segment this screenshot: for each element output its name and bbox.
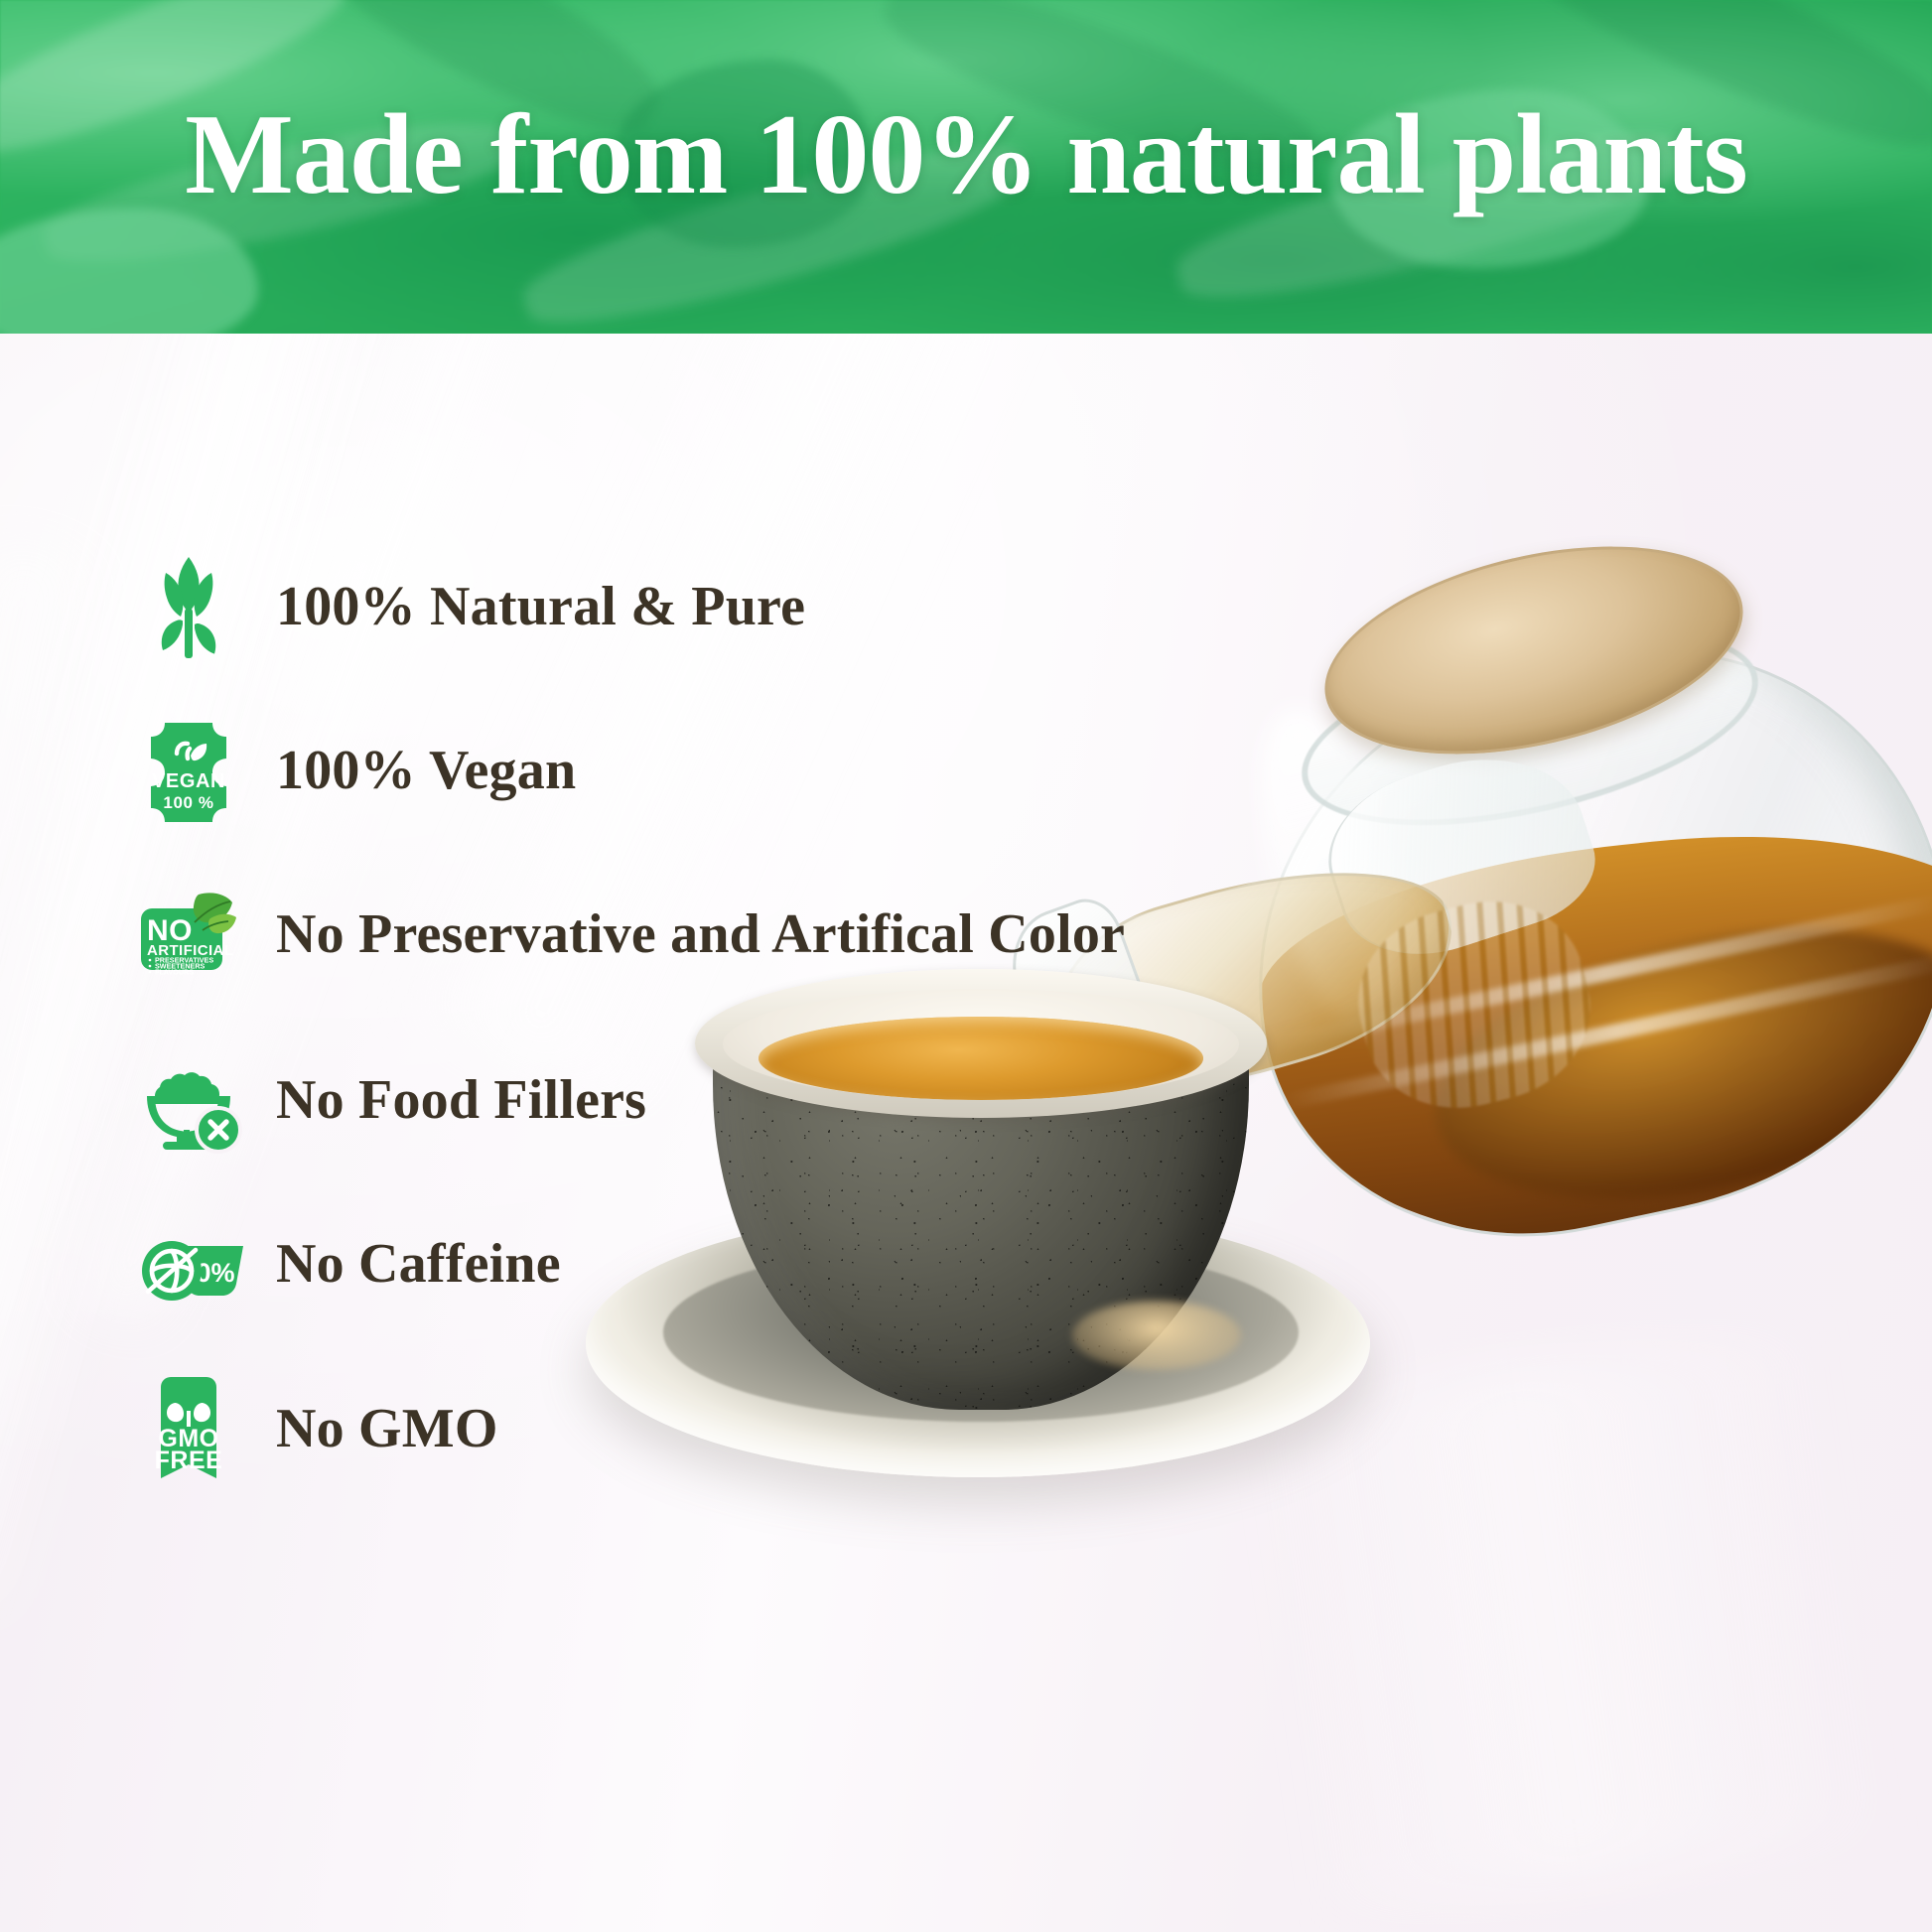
feature-label: No Food Fillers	[276, 1068, 646, 1132]
feature-label: 100% Natural & Pure	[276, 575, 805, 638]
no-artificial-badge-icon: NO ARTIFICIAL PRESERVATIVES SWEETENERS F…	[129, 875, 248, 994]
rice-bowl-no-fillers-icon	[129, 1040, 248, 1160]
product-feature-graphic: Made from 100% natural plants	[0, 0, 1932, 1932]
feature-row-vegan: VEGAN 100 % 100% Vegan	[129, 696, 576, 845]
feature-label: No Preservative and Artifical Color	[276, 902, 1125, 966]
vegan-badge-line1: VEGAN	[152, 770, 225, 792]
header-banner: Made from 100% natural plants	[0, 0, 1932, 334]
feature-label: No Caffeine	[276, 1232, 561, 1296]
page-title: Made from 100% natural plants	[0, 97, 1932, 212]
feature-row-no-gmo: GMO FREE No GMO	[129, 1354, 498, 1503]
vegan-100-badge-icon: VEGAN 100 %	[129, 711, 248, 830]
vegan-badge-line2: 100 %	[163, 793, 213, 812]
gmo-badge-line2: FREE	[155, 1447, 223, 1474]
coffee-bean-zero-percent-icon: 0%	[129, 1204, 248, 1323]
feature-row-no-artificial: NO ARTIFICIAL PRESERVATIVES SWEETENERS F…	[129, 860, 1125, 1009]
feature-row-no-caffeine: 0% No Caffeine	[129, 1189, 561, 1338]
feature-list: 100% Natural & Pure VEGAN 100	[0, 334, 1191, 1932]
feature-row-natural-pure: 100% Natural & Pure	[129, 532, 805, 681]
feature-label: 100% Vegan	[276, 739, 576, 802]
glass-teapot	[1211, 556, 1932, 1251]
no-artificial-bullet-3: FLAVOURS	[155, 967, 194, 976]
plant-sprout-icon	[129, 547, 248, 666]
gmo-free-ribbon-icon: GMO FREE	[129, 1369, 248, 1488]
caffeine-zero-value: 0%	[196, 1258, 234, 1288]
feature-row-no-food-fillers: No Food Fillers	[129, 1026, 646, 1174]
feature-label: No GMO	[276, 1397, 498, 1460]
